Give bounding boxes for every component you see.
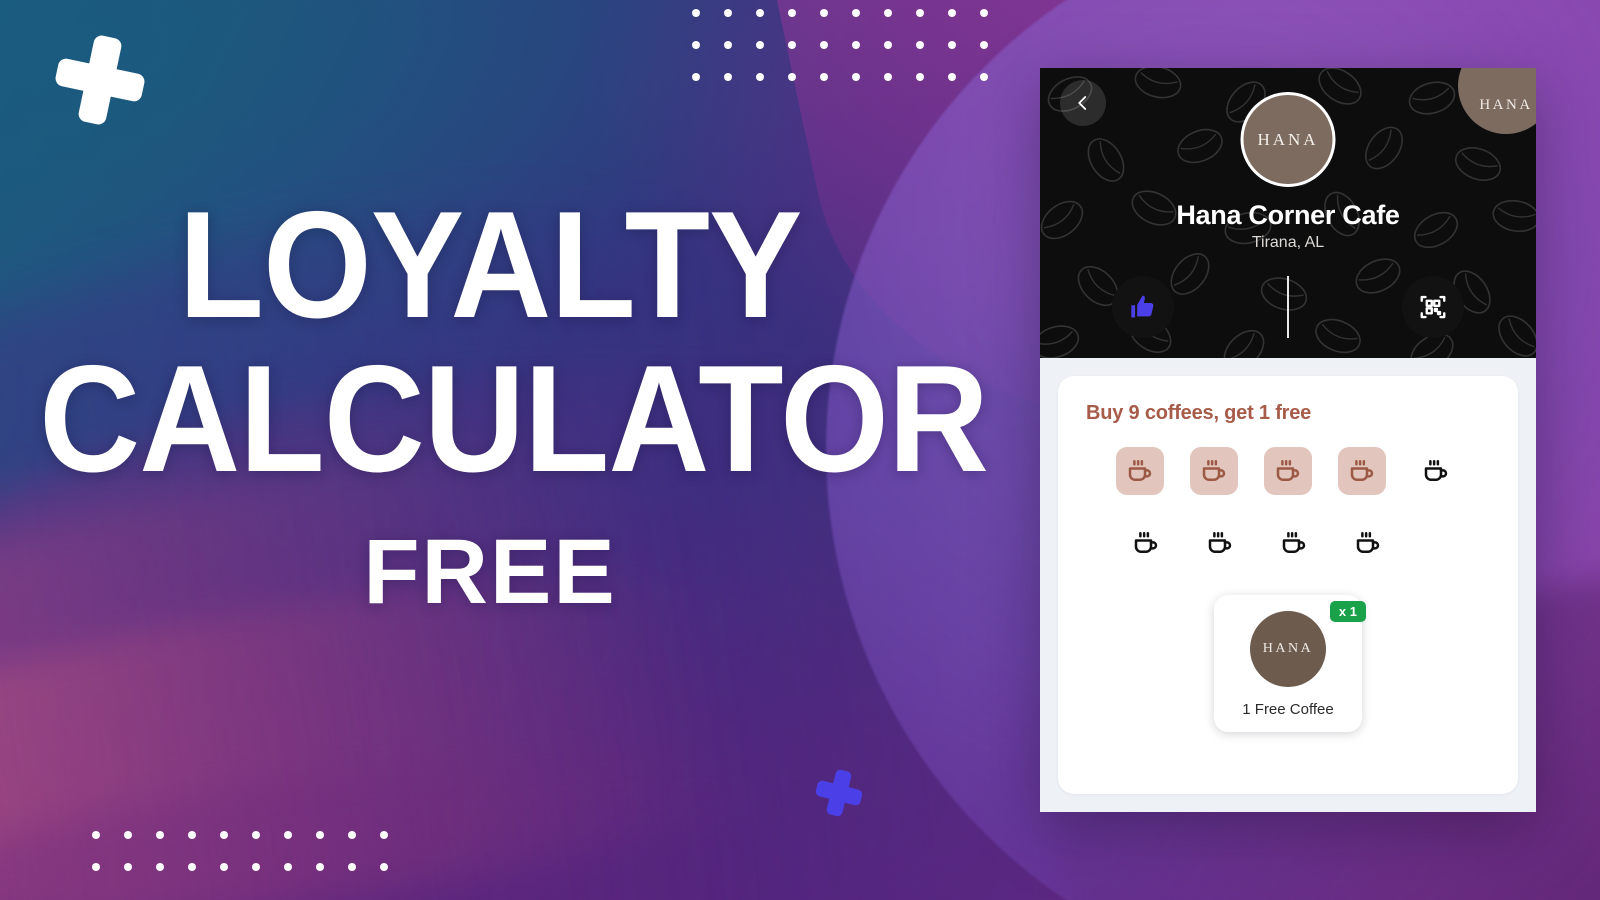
dot [756, 73, 764, 81]
coffee-cup-icon [1421, 456, 1451, 486]
dot [948, 41, 956, 49]
dot [852, 41, 860, 49]
stamp-row [1086, 519, 1490, 567]
dot [124, 831, 132, 839]
dot [316, 831, 324, 839]
coffee-cup-icon [1131, 528, 1161, 558]
loyalty-body: Buy 9 coffees, get 1 free x 1 HANA 1 Fre… [1040, 358, 1536, 812]
dot [156, 863, 164, 871]
dot [788, 9, 796, 17]
dot [884, 73, 892, 81]
dot [724, 73, 732, 81]
dot [884, 9, 892, 17]
dot [884, 41, 892, 49]
coffee-cup-icon [1279, 528, 1309, 558]
dot [380, 831, 388, 839]
business-header: HANA HANA Hana Corner Cafe Tirana, AL [1040, 68, 1536, 358]
reward-section: x 1 HANA 1 Free Coffee [1086, 595, 1490, 732]
dot [284, 831, 292, 839]
dot [724, 9, 732, 17]
action-divider [1287, 276, 1289, 338]
dot [948, 9, 956, 17]
business-logo-text: HANA [1257, 130, 1318, 150]
reward-label: 1 Free Coffee [1224, 701, 1352, 718]
qr-button[interactable] [1402, 276, 1464, 338]
stamp-filled [1338, 447, 1386, 495]
stamp-empty [1412, 447, 1460, 495]
dot [788, 73, 796, 81]
qr-code-icon [1418, 292, 1448, 322]
stamp-filled [1264, 447, 1312, 495]
dot [252, 831, 260, 839]
dot [852, 9, 860, 17]
dot [788, 41, 796, 49]
dot [188, 863, 196, 871]
dot [220, 831, 228, 839]
plus-icon [48, 28, 152, 132]
dot [692, 41, 700, 49]
dot [756, 41, 764, 49]
dot [756, 9, 764, 17]
dot [380, 863, 388, 871]
coffee-cup-icon [1199, 456, 1229, 486]
back-button[interactable] [1060, 80, 1106, 126]
coffee-cup-icon [1205, 528, 1235, 558]
dot [852, 73, 860, 81]
reward-logo-text: HANA [1263, 641, 1313, 657]
stamp-empty [1344, 519, 1392, 567]
dot [92, 863, 100, 871]
header-actions [1040, 270, 1536, 344]
dot [948, 73, 956, 81]
coffee-cup-icon [1347, 456, 1377, 486]
dot [820, 41, 828, 49]
thumbs-up-icon [1129, 293, 1157, 321]
coffee-cup-icon [1353, 528, 1383, 558]
dot [124, 863, 132, 871]
chevron-left-icon [1074, 94, 1092, 112]
dot [92, 831, 100, 839]
dot [156, 831, 164, 839]
dot [724, 41, 732, 49]
corner-logo-text: HANA [1479, 97, 1532, 114]
dot [188, 831, 196, 839]
reward-badge: x 1 [1330, 601, 1366, 622]
dot [692, 9, 700, 17]
dot [692, 73, 700, 81]
dot [980, 73, 988, 81]
business-location: Tirana, AL [1040, 234, 1536, 252]
dot [820, 73, 828, 81]
dot [916, 9, 924, 17]
dot [316, 863, 324, 871]
stamp-empty [1196, 519, 1244, 567]
dot-grid-top [692, 9, 1012, 105]
reward-logo: HANA [1250, 611, 1326, 687]
dot [348, 863, 356, 871]
dot [284, 863, 292, 871]
dot [348, 831, 356, 839]
dot [252, 863, 260, 871]
coffee-cup-icon [1273, 456, 1303, 486]
loyalty-card: Buy 9 coffees, get 1 free x 1 HANA 1 Fre… [1058, 376, 1518, 794]
business-logo: HANA [1241, 92, 1336, 187]
dot [980, 41, 988, 49]
coffee-cup-icon [1125, 456, 1155, 486]
stamp-row [1086, 447, 1490, 495]
stamp-filled [1190, 447, 1238, 495]
like-button[interactable] [1112, 276, 1174, 338]
dot [916, 41, 924, 49]
dot-grid-bottom [92, 831, 412, 895]
dot [980, 9, 988, 17]
stamp-empty [1270, 519, 1318, 567]
reward-card[interactable]: x 1 HANA 1 Free Coffee [1214, 595, 1362, 732]
loyalty-card-title: Buy 9 coffees, get 1 free [1086, 402, 1490, 425]
stamp-filled [1116, 447, 1164, 495]
dot [916, 73, 924, 81]
dot [820, 9, 828, 17]
stamp-empty [1122, 519, 1170, 567]
dot [220, 863, 228, 871]
business-name: Hana Corner Cafe [1040, 200, 1536, 231]
phone-mockup: HANA HANA Hana Corner Cafe Tirana, AL [1040, 68, 1536, 812]
